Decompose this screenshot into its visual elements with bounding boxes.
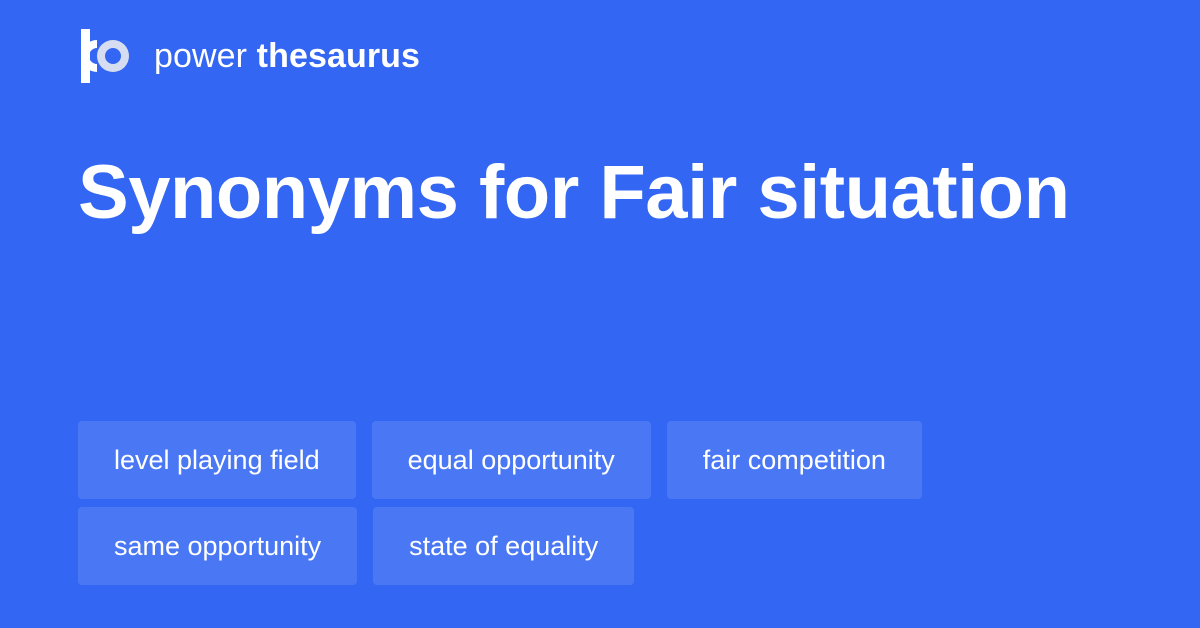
brand-name-part1: power — [154, 37, 247, 75]
page-title: Synonyms for Fair situation — [78, 136, 1118, 250]
synonym-tag[interactable]: fair competition — [667, 421, 922, 499]
brand-name: power thesaurus — [154, 39, 420, 73]
power-thesaurus-b-logo-icon — [78, 29, 130, 83]
synonym-list: level playing field equal opportunity fa… — [78, 421, 1122, 585]
share-card: power thesaurus Synonyms for Fair situat… — [0, 0, 1200, 628]
synonym-tag[interactable]: level playing field — [78, 421, 356, 499]
synonym-tag[interactable]: state of equality — [373, 507, 634, 585]
synonym-tag[interactable]: same opportunity — [78, 507, 357, 585]
synonym-tag[interactable]: equal opportunity — [372, 421, 651, 499]
brand-name-part2: thesaurus — [257, 37, 420, 75]
brand-logo[interactable]: power thesaurus — [78, 28, 420, 84]
